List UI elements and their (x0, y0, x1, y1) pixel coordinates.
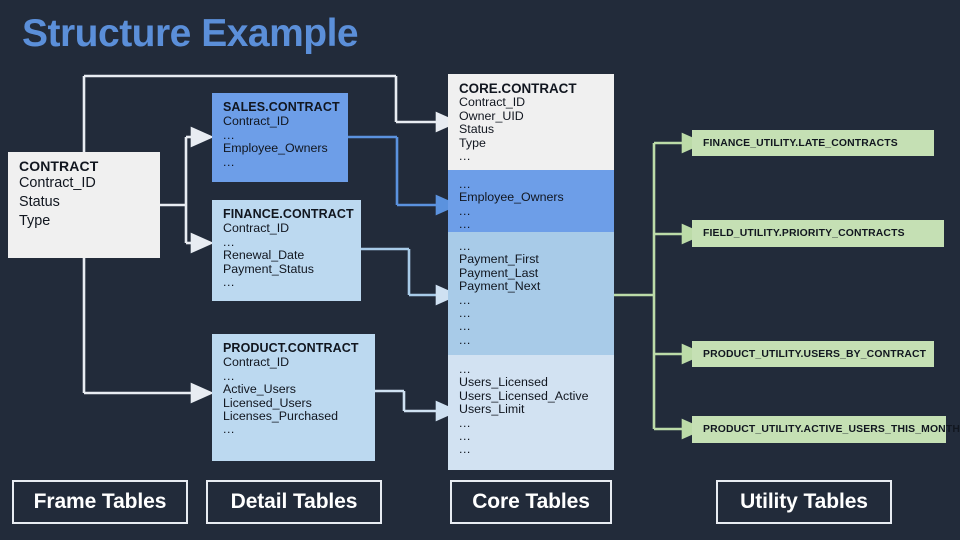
table-field-ellipsis: ... (459, 205, 604, 218)
table-field-ellipsis: ... (223, 236, 351, 249)
table-field-ellipsis: ... (459, 294, 604, 307)
table-title: PRODUCT_UTILITY.ACTIVE_USERS_THIS_MONTH (703, 424, 960, 435)
table-field: Renewal_Date (223, 249, 351, 262)
utility-table-product-users-by-contract[interactable]: PRODUCT_UTILITY.USERS_BY_CONTRACT (692, 341, 934, 367)
table-field: Employee_Owners (223, 142, 338, 155)
table-field-ellipsis: ... (459, 443, 604, 456)
detail-table-product-contract[interactable]: PRODUCT.CONTRACT Contract_ID ... Active_… (212, 334, 375, 461)
table-field: Licensed_Users (223, 397, 365, 410)
core-segment-identity: CORE.CONTRACT Contract_ID Owner_UID Stat… (448, 74, 614, 170)
core-segment-product: ... Users_Licensed Users_Licensed_Active… (448, 355, 614, 470)
core-segment-finance: ... Payment_First Payment_Last Payment_N… (448, 232, 614, 355)
wire-product-to-core (375, 391, 437, 411)
table-field-ellipsis: ... (459, 417, 604, 430)
table-field: Type (459, 137, 604, 150)
diagram-canvas: Structure Example CONTRACT Contract_ID S… (0, 0, 960, 540)
table-field: Contract_ID (19, 174, 150, 193)
table-field: Users_Limit (459, 403, 604, 416)
table-title: CORE.CONTRACT (459, 82, 604, 95)
table-field-ellipsis: ... (459, 178, 604, 191)
legend-label: Core Tables (472, 490, 590, 514)
table-field-ellipsis: ... (223, 129, 338, 142)
table-field-ellipsis: ... (223, 276, 351, 289)
table-field-ellipsis: ... (459, 363, 604, 376)
table-title: FINANCE.CONTRACT (223, 208, 351, 221)
legend-label: Detail Tables (231, 490, 358, 514)
table-field-ellipsis: ... (459, 218, 604, 231)
legend-label: Frame Tables (34, 490, 167, 514)
wire-sales-to-core (348, 137, 437, 205)
table-field: Status (19, 193, 150, 212)
core-segment-sales: ... Employee_Owners ... ... (448, 170, 614, 232)
table-title: SALES.CONTRACT (223, 101, 338, 114)
table-field: Type (19, 212, 150, 231)
table-field: Users_Licensed_Active (459, 390, 604, 403)
table-field-ellipsis: ... (459, 320, 604, 333)
table-field: Payment_Next (459, 280, 604, 293)
table-title: FIELD_UTILITY.PRIORITY_CONTRACTS (703, 228, 905, 239)
legend-detail-tables[interactable]: Detail Tables (206, 480, 382, 524)
table-title: PRODUCT_UTILITY.USERS_BY_CONTRACT (703, 349, 926, 360)
table-field: Owner_UID (459, 110, 604, 123)
table-field-ellipsis: ... (459, 307, 604, 320)
page-title: Structure Example (22, 12, 358, 56)
table-field-ellipsis: ... (223, 370, 365, 383)
table-field-ellipsis: ... (459, 150, 604, 163)
table-field-ellipsis: ... (459, 240, 604, 253)
wire-core-to-utilities (614, 143, 683, 429)
utility-table-finance-late-contracts[interactable]: FINANCE_UTILITY.LATE_CONTRACTS (692, 130, 934, 156)
wire-contract-to-details (160, 137, 192, 243)
table-field: Users_Licensed (459, 376, 604, 389)
table-field: Payment_Last (459, 267, 604, 280)
utility-table-field-priority-contracts[interactable]: FIELD_UTILITY.PRIORITY_CONTRACTS (692, 220, 944, 247)
wire-finance-to-core (361, 249, 437, 295)
table-field-ellipsis: ... (459, 334, 604, 347)
detail-table-finance-contract[interactable]: FINANCE.CONTRACT Contract_ID ... Renewal… (212, 200, 361, 301)
legend-label: Utility Tables (740, 490, 868, 514)
wire-contract-to-product (84, 258, 192, 393)
table-title: FINANCE_UTILITY.LATE_CONTRACTS (703, 138, 898, 149)
table-field: Contract_ID (223, 356, 365, 369)
table-field: Payment_First (459, 253, 604, 266)
legend-core-tables[interactable]: Core Tables (450, 480, 612, 524)
table-field: Licenses_Purchased (223, 410, 365, 423)
table-field: Contract_ID (223, 115, 338, 128)
table-title: CONTRACT (19, 160, 150, 173)
table-field: Payment_Status (223, 263, 351, 276)
table-field: Active_Users (223, 383, 365, 396)
table-field: Status (459, 123, 604, 136)
table-field: Contract_ID (459, 96, 604, 109)
core-table-core-contract[interactable]: CORE.CONTRACT Contract_ID Owner_UID Stat… (448, 74, 614, 470)
table-field: Contract_ID (223, 222, 351, 235)
legend-utility-tables[interactable]: Utility Tables (716, 480, 892, 524)
frame-table-contract[interactable]: CONTRACT Contract_ID Status Type (8, 152, 160, 258)
table-field-ellipsis: ... (459, 430, 604, 443)
table-title: PRODUCT.CONTRACT (223, 342, 365, 355)
detail-table-sales-contract[interactable]: SALES.CONTRACT Contract_ID ... Employee_… (212, 93, 348, 182)
utility-table-product-active-users-this-month[interactable]: PRODUCT_UTILITY.ACTIVE_USERS_THIS_MONTH (692, 416, 946, 443)
legend-frame-tables[interactable]: Frame Tables (12, 480, 188, 524)
table-field-ellipsis: ... (223, 423, 365, 436)
table-field-ellipsis: ... (223, 156, 338, 169)
table-field: Employee_Owners (459, 191, 604, 204)
